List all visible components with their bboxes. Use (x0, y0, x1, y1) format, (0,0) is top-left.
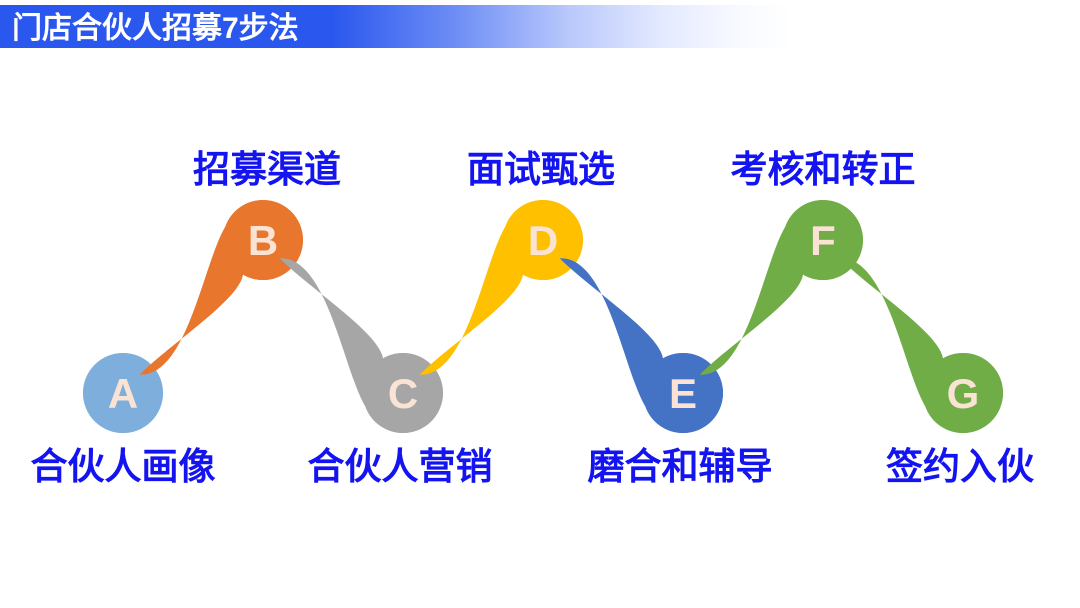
step-caption-a: 合伙人画像 (31, 447, 216, 487)
process-diagram: ABCDEFG 合伙人画像招募渠道合伙人营销面试甄选磨合和辅导考核和转正签约入伙 (0, 0, 1080, 608)
chain-svg (0, 0, 1080, 608)
step-caption-f: 考核和转正 (731, 150, 916, 190)
step-caption-d: 面试甄选 (467, 150, 615, 190)
step-caption-c: 合伙人营销 (308, 447, 493, 487)
step-circle-g[interactable] (923, 353, 1003, 433)
step-caption-g: 签约入伙 (886, 447, 1034, 487)
teardrop-shapes (83, 200, 1003, 433)
step-caption-b: 招募渠道 (193, 150, 341, 190)
step-caption-e: 磨合和辅导 (588, 447, 773, 487)
